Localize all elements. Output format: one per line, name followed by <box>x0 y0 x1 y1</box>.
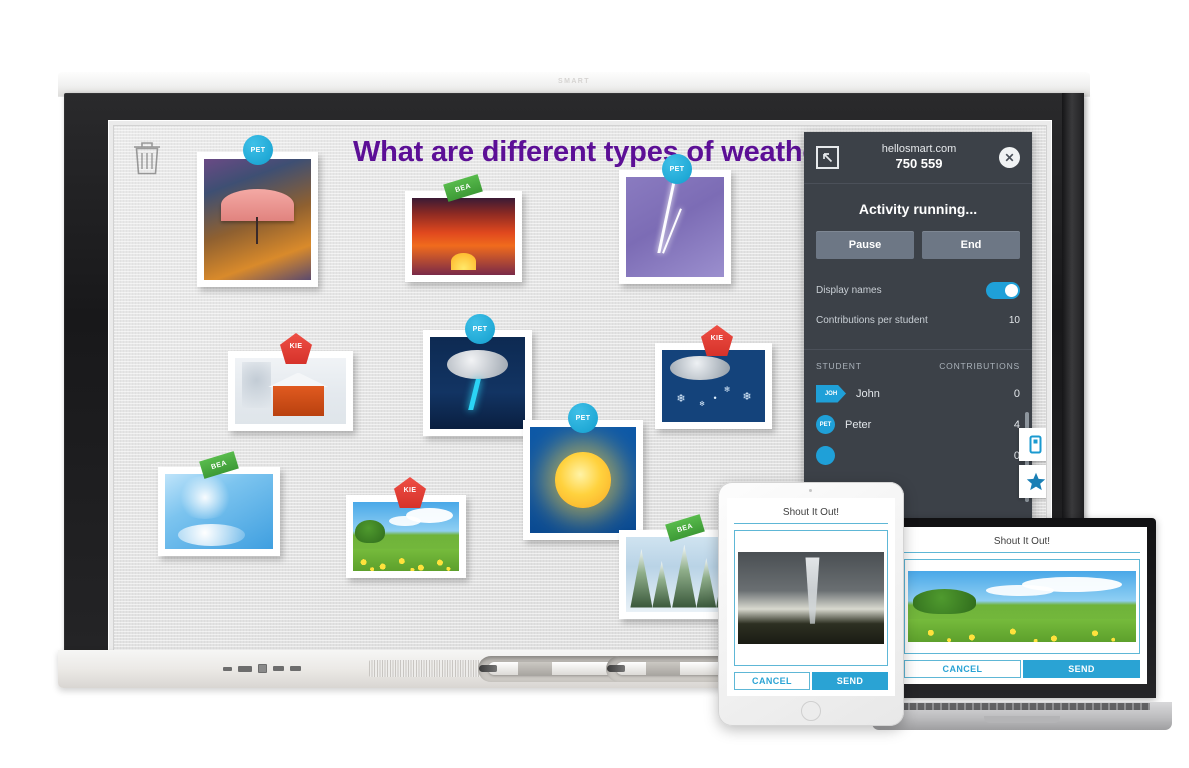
photo-field <box>908 571 1136 642</box>
photo-umbrella <box>204 159 311 280</box>
photo-blue-sky <box>165 474 273 549</box>
laptop-lid: Shout It Out! CANCEL SEND <box>888 518 1156 698</box>
class-code: 750 559 <box>839 156 999 171</box>
contributions-per-student-label: Contributions per student <box>816 315 1009 326</box>
student-tag: KIE <box>394 477 426 508</box>
shout-it-out-dialog-laptop: Shout It Out! CANCEL SEND <box>897 527 1147 684</box>
cancel-button[interactable]: CANCEL <box>734 672 810 690</box>
photo-snow-cabin <box>235 358 346 424</box>
send-button[interactable]: SEND <box>1023 660 1140 678</box>
collapse-arrow-icon[interactable] <box>816 146 839 169</box>
student-table-header: STUDENT CONTRIBUTIONS <box>804 350 1032 378</box>
student-name: John <box>856 388 980 400</box>
send-button[interactable]: SEND <box>812 672 888 690</box>
table-row[interactable]: PET Peter 4 <box>804 409 1032 440</box>
laptop-device: Shout It Out! CANCEL SEND <box>872 518 1172 730</box>
tablet-device: Shout It Out! CANCEL SEND <box>718 482 904 726</box>
hellosmart-url: hellosmart.com <box>839 143 999 156</box>
table-row[interactable]: 0 <box>804 440 1032 471</box>
photo-storm <box>430 337 525 429</box>
student-contributions: 0 <box>980 450 1020 462</box>
photo-card[interactable]: PET <box>619 170 731 284</box>
contributions-per-student-row[interactable]: Contributions per student 10 <box>804 305 1032 335</box>
table-row[interactable]: JOH John 0 <box>804 378 1032 409</box>
contributions-per-student-value: 10 <box>1009 315 1020 326</box>
student-tag: PET <box>243 135 273 165</box>
photo-card[interactable]: KIE <box>346 495 466 578</box>
dialog-title: Shout It Out! <box>904 533 1140 553</box>
mobile-device-icon[interactable] <box>1019 428 1047 461</box>
dialog-actions: CANCEL SEND <box>734 672 888 690</box>
activity-controls: Pause End <box>804 231 1032 275</box>
student-tag: PET <box>568 403 598 433</box>
photo-card[interactable]: BEA <box>158 467 280 556</box>
student-tag: KIE <box>280 333 312 364</box>
display-names-label: Display names <box>816 285 986 296</box>
dialog-actions: CANCEL SEND <box>904 660 1140 678</box>
photo-tornado <box>738 552 884 644</box>
tablet-screen: Shout It Out! CANCEL SEND <box>727 498 895 696</box>
photo-sun <box>530 427 636 533</box>
photo-sunset <box>412 198 515 275</box>
laptop-trackpad-notch <box>984 716 1060 723</box>
dialog-image-area[interactable] <box>904 559 1140 654</box>
class-code-block: hellosmart.com 750 559 <box>839 143 999 171</box>
activity-status: Activity running... <box>804 184 1032 231</box>
shout-it-out-dialog-tablet: Shout It Out! CANCEL SEND <box>727 498 895 696</box>
display-names-toggle[interactable] <box>986 282 1020 299</box>
photo-sleet: ❄ ❄ ❄ ❄ • <box>662 350 765 422</box>
photo-card[interactable]: PET <box>197 152 318 287</box>
avatar <box>816 446 835 465</box>
column-contributions: CONTRIBUTIONS <box>939 361 1020 371</box>
photo-lightning <box>626 177 724 277</box>
student-tag: PET <box>662 154 692 184</box>
dialog-title: Shout It Out! <box>734 504 888 524</box>
port-cluster <box>223 664 301 673</box>
avatar: JOH <box>816 385 846 403</box>
stylus-pen[interactable] <box>488 662 620 675</box>
tablet-home-button[interactable] <box>801 701 821 721</box>
laptop-keyboard <box>894 703 1150 710</box>
column-student: STUDENT <box>816 361 939 371</box>
panel-header: hellosmart.com 750 559 <box>804 132 1032 184</box>
smart-brand-logo: SMART <box>58 78 1090 85</box>
display-names-row[interactable]: Display names <box>804 275 1032 305</box>
photo-card[interactable]: KIE <box>228 351 353 431</box>
photo-field <box>353 502 459 571</box>
student-tag: PET <box>465 314 495 344</box>
close-icon[interactable] <box>999 147 1020 168</box>
student-tag: KIE <box>701 325 733 356</box>
screenshot-stage: SMART What are different types of weathe… <box>0 0 1189 768</box>
end-button[interactable]: End <box>922 231 1020 259</box>
tablet-camera <box>809 489 812 492</box>
photo-card[interactable]: PET <box>523 420 643 540</box>
laptop-base <box>872 702 1172 730</box>
star-icon[interactable] <box>1019 465 1047 498</box>
avatar: PET <box>816 415 835 434</box>
laptop-screen: Shout It Out! CANCEL SEND <box>897 527 1147 684</box>
photo-card[interactable]: PET <box>423 330 532 436</box>
student-contributions: 0 <box>980 388 1020 400</box>
student-name: Peter <box>845 419 980 431</box>
photo-card[interactable]: KIE ❄ ❄ ❄ ❄ • <box>655 343 772 429</box>
photo-card[interactable]: BEA <box>405 191 522 282</box>
dialog-image-area[interactable] <box>734 530 888 666</box>
cancel-button[interactable]: CANCEL <box>904 660 1021 678</box>
student-contributions: 4 <box>980 419 1020 431</box>
side-tab-bar <box>1019 428 1047 502</box>
pause-button[interactable]: Pause <box>816 231 914 259</box>
